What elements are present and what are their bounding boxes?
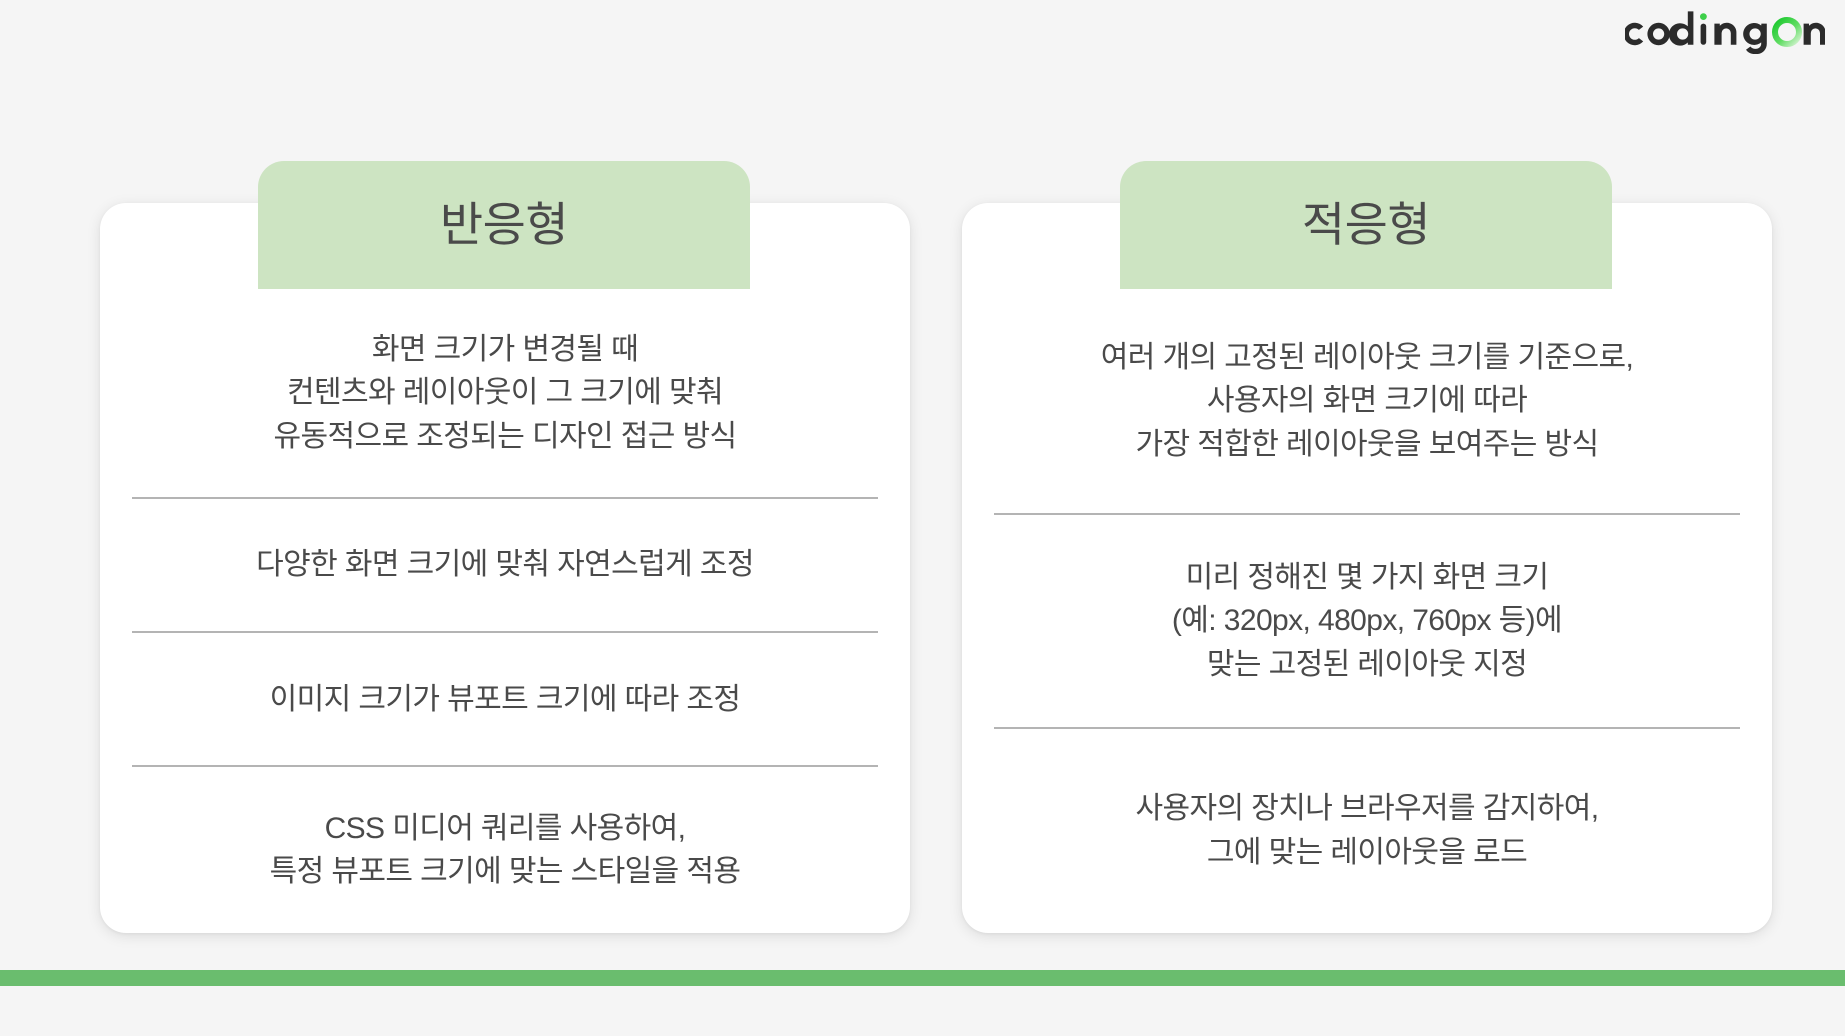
panel-header-responsive: 반응형: [258, 161, 750, 289]
slide-canvas: 반응형 화면 크기가 변경될 때 컨텐츠와 레이아웃이 그 크기에 맞춰 유동적…: [0, 0, 1845, 1036]
feature-row: 이미지 크기가 뷰포트 크기에 따라 조정: [132, 631, 878, 765]
feature-text: CSS 미디어 쿼리를 사용하여, 특정 뷰포트 크기에 맞는 스타일을 적용: [270, 807, 741, 894]
lead-text-adaptive: 여러 개의 고정된 레이아웃 크기를 기준으로, 사용자의 화면 크기에 따라 …: [1101, 336, 1633, 467]
feature-row: 미리 정해진 몇 가지 화면 크기 (예: 320px, 480px, 760p…: [994, 513, 1740, 726]
feature-row: 다양한 화면 크기에 맞춰 자연스럽게 조정: [132, 497, 878, 631]
card-body-adaptive: 여러 개의 고정된 레이아웃 크기를 기준으로, 사용자의 화면 크기에 따라 …: [962, 289, 1772, 933]
lead-text-responsive: 화면 크기가 변경될 때 컨텐츠와 레이아웃이 그 크기에 맞춰 유동적으로 조…: [274, 328, 737, 459]
feature-text: 이미지 크기가 뷰포트 크기에 따라 조정: [270, 678, 741, 722]
feature-text: 미리 정해진 몇 가지 화면 크기 (예: 320px, 480px, 760p…: [1172, 556, 1562, 687]
feature-text: 사용자의 장치나 브라우저를 감지하여, 그에 맞는 레이아웃을 로드: [1136, 787, 1599, 874]
codingon-logo: [1625, 8, 1825, 56]
feature-row: 사용자의 장치나 브라우저를 감지하여, 그에 맞는 레이아웃을 로드: [994, 727, 1740, 933]
panel-header-adaptive: 적응형: [1120, 161, 1612, 289]
feature-row: CSS 미디어 쿼리를 사용하여, 특정 뷰포트 크기에 맞는 스타일을 적용: [132, 765, 878, 933]
logo-ring: [1775, 20, 1799, 44]
lead-row-adaptive: 여러 개의 고정된 레이아웃 크기를 기준으로, 사용자의 화면 크기에 따라 …: [994, 289, 1740, 513]
lead-row-responsive: 화면 크기가 변경될 때 컨텐츠와 레이아웃이 그 크기에 맞춰 유동적으로 조…: [132, 289, 878, 497]
panel-responsive: 반응형 화면 크기가 변경될 때 컨텐츠와 레이아웃이 그 크기에 맞춰 유동적…: [100, 203, 910, 933]
panel-title-responsive: 반응형: [440, 201, 568, 250]
feature-text: 다양한 화면 크기에 맞춰 자연스럽게 조정: [256, 543, 754, 587]
bottom-accent-bar: [0, 970, 1845, 986]
panel-title-adaptive: 적응형: [1302, 201, 1430, 250]
panel-adaptive: 적응형 여러 개의 고정된 레이아웃 크기를 기준으로, 사용자의 화면 크기에…: [962, 203, 1772, 933]
card-body-responsive: 화면 크기가 변경될 때 컨텐츠와 레이아웃이 그 크기에 맞춰 유동적으로 조…: [100, 289, 910, 933]
logo-dot: [1700, 13, 1707, 20]
